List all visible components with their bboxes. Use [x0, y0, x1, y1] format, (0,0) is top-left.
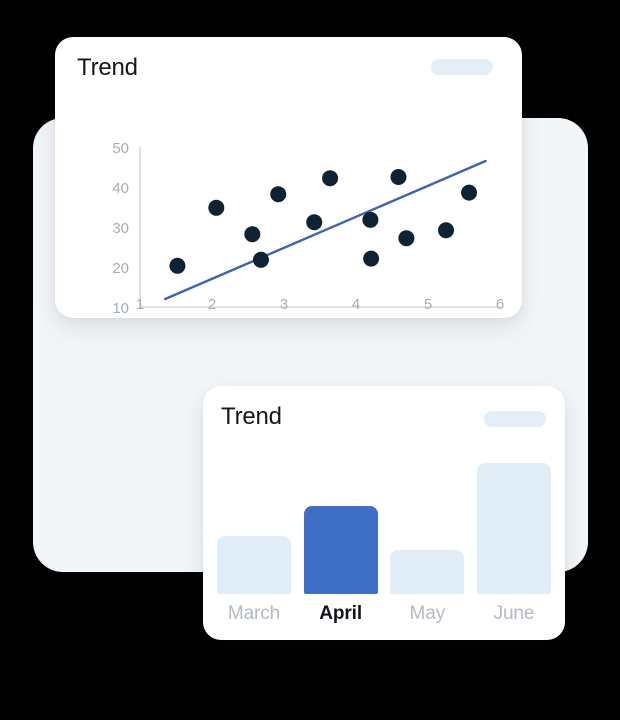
y-tick-20: 20 [112, 260, 129, 277]
scatter-point[interactable] [270, 186, 286, 202]
scatter-point[interactable] [208, 200, 224, 216]
scatter-point[interactable] [362, 212, 378, 228]
scatter-point[interactable] [390, 169, 406, 185]
x-tick-label: 2 [208, 296, 216, 313]
x-axis-labels-group: 123456 [136, 296, 504, 313]
bars-card-header: Trend [203, 386, 565, 442]
bar-active[interactable] [304, 506, 378, 594]
bar-label[interactable]: May [390, 602, 464, 626]
bar-chart-area: MarchAprilMayJune [203, 442, 565, 640]
x-tick-label: 5 [424, 296, 432, 313]
scatter-card-placeholder-pill[interactable] [431, 59, 493, 75]
scatter-point[interactable] [322, 170, 338, 186]
bar[interactable] [217, 536, 291, 594]
bar-slot[interactable] [217, 448, 291, 594]
bar-slot[interactable] [477, 448, 551, 594]
bar-slot[interactable] [390, 448, 464, 594]
bar-label[interactable]: April [304, 602, 378, 626]
bar-slot[interactable] [304, 448, 378, 594]
scatter-trend-card[interactable]: Trend 50 40 30 20 10 [55, 37, 522, 318]
bar[interactable] [390, 550, 464, 594]
scatter-point[interactable] [306, 214, 322, 230]
composition-stage: Trend 50 40 30 20 10 [0, 0, 620, 720]
scatter-point[interactable] [398, 230, 414, 246]
x-tick-label: 1 [136, 296, 144, 313]
x-tick-label: 4 [352, 296, 360, 313]
scatter-point[interactable] [363, 251, 379, 267]
bar[interactable] [477, 463, 551, 594]
y-tick-50: 50 [112, 140, 129, 157]
scatter-plot-svg: 50 40 30 20 10 [55, 89, 522, 318]
scatter-x-axis-svg: 123456 [55, 287, 522, 317]
bar-category-labels: MarchAprilMayJune [217, 602, 551, 626]
scatter-point[interactable] [461, 185, 477, 201]
scatter-point[interactable] [438, 222, 454, 238]
x-tick-label: 3 [280, 296, 288, 313]
bars-card-placeholder-pill[interactable] [484, 411, 546, 427]
scatter-point[interactable] [244, 226, 260, 242]
x-tick-label: 6 [496, 296, 504, 313]
scatter-point[interactable] [169, 258, 185, 274]
scatter-card-header: Trend [55, 37, 522, 93]
scatter-card-title: Trend [77, 54, 138, 82]
scatter-point[interactable] [253, 252, 269, 268]
y-tick-40: 40 [112, 180, 129, 197]
scatter-series-group [165, 161, 485, 299]
bar-columns [217, 448, 551, 594]
bar-label[interactable]: June [477, 602, 551, 626]
bars-trend-card[interactable]: Trend MarchAprilMayJune [203, 386, 565, 640]
bar-label[interactable]: March [217, 602, 291, 626]
scatter-plot-area: 50 40 30 20 10 123456 [55, 89, 522, 318]
bars-card-title: Trend [221, 403, 282, 431]
y-tick-30: 30 [112, 220, 129, 237]
